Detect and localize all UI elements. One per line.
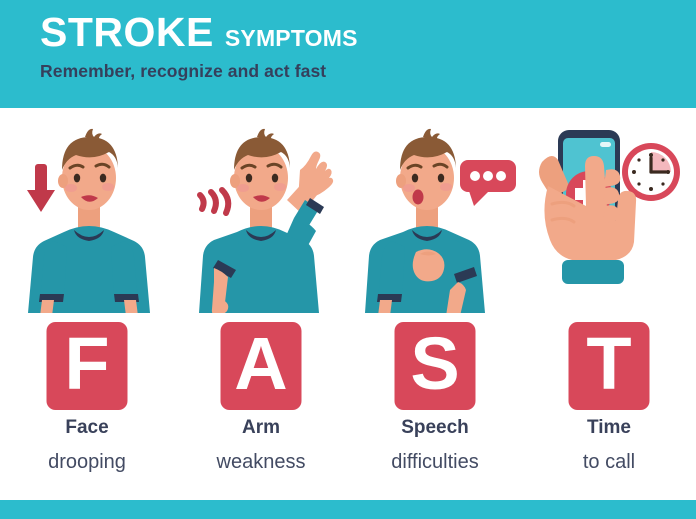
letter-tile-t: T xyxy=(569,322,650,410)
symptom-column-speech: S Speech difficulties xyxy=(348,108,522,500)
letter-tile-a: A xyxy=(221,322,302,410)
speech-bubble-dots-icon xyxy=(460,160,516,206)
tile-letter: A xyxy=(234,327,287,401)
letter-tile-f: F xyxy=(47,322,128,410)
header-band: STROKE SYMPTOMS Remember, recognize and … xyxy=(0,0,696,108)
red-down-arrow-icon xyxy=(27,164,55,212)
man-arm-weakness-illustration xyxy=(174,108,348,313)
red-motion-waves-icon xyxy=(200,190,228,213)
caption-bold-time: Time xyxy=(522,418,696,437)
title-sub: SYMPTOMS xyxy=(225,27,358,50)
tile-letter: T xyxy=(586,327,631,401)
tile-letter: S xyxy=(410,327,459,401)
caption-bold-arm: Arm xyxy=(174,418,348,437)
tile-letter: F xyxy=(64,327,109,401)
caption-regular-face: drooping xyxy=(0,452,174,472)
caption-regular-speech: difficulties xyxy=(348,452,522,472)
hand-holding-phone-illustration xyxy=(522,108,696,313)
subtitle: Remember, recognize and act fast xyxy=(40,63,326,81)
caption-regular-time: to call xyxy=(522,452,696,472)
symptom-column-arm: A Arm weakness xyxy=(174,108,348,500)
man-speech-difficulty-illustration xyxy=(348,108,522,313)
caption-bold-speech: Speech xyxy=(348,418,522,437)
page-title: STROKE SYMPTOMS xyxy=(40,12,358,53)
caption-bold-face: Face xyxy=(0,418,174,437)
man-face-drooping-illustration xyxy=(0,108,174,313)
caption-regular-arm: weakness xyxy=(174,452,348,472)
symptom-column-face: F Face drooping xyxy=(0,108,174,500)
letter-tile-s: S xyxy=(395,322,476,410)
symptom-columns: F Face drooping xyxy=(0,108,696,500)
symptom-column-time: T Time to call xyxy=(522,108,696,500)
footer-band xyxy=(0,500,696,519)
stroke-symptoms-infographic: STROKE SYMPTOMS Remember, recognize and … xyxy=(0,0,696,519)
title-main: STROKE xyxy=(40,12,214,53)
